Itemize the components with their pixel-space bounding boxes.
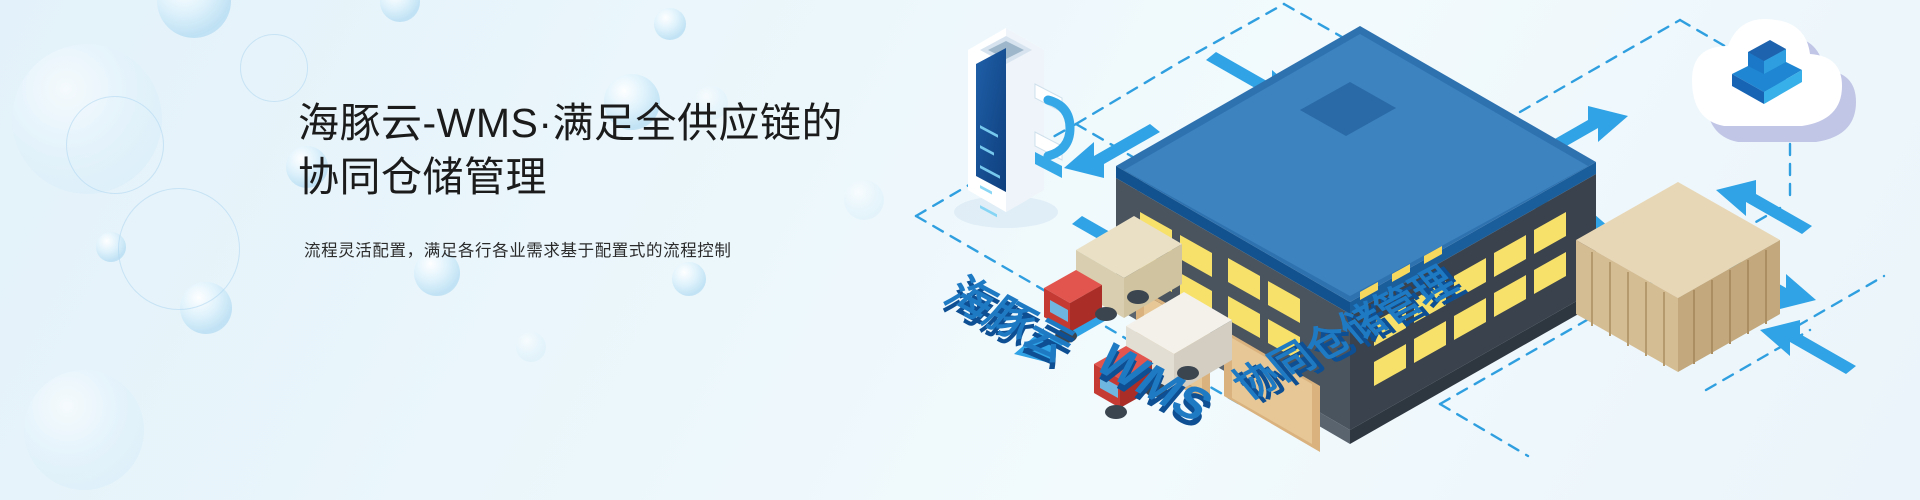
warehouse-illustration: 海豚云 海豚云 WMS WMS 协同仓储管理 协同仓储管理 xyxy=(880,0,1920,500)
decorative-bubble xyxy=(516,332,546,362)
decorative-bubble-ring xyxy=(66,96,164,194)
decorative-bubble xyxy=(654,8,686,40)
decorative-bubble xyxy=(157,0,231,38)
decorative-bubble xyxy=(24,370,144,490)
shipping-container xyxy=(1576,182,1780,372)
decorative-bubble xyxy=(96,232,126,262)
page-subtitle: 流程灵活配置，满足各行各业需求基于配置式的流程控制 xyxy=(304,238,918,264)
decorative-bubble xyxy=(672,262,706,296)
decorative-bubble xyxy=(380,0,420,22)
hero-banner: 海豚云-WMS·满足全供应链的 协同仓储管理 流程灵活配置，满足各行各业需求基于… xyxy=(0,0,1920,500)
decorative-bubble-ring xyxy=(240,34,308,102)
decorative-bubble-ring xyxy=(118,188,240,310)
hero-copy: 海豚云-WMS·满足全供应链的 协同仓储管理 流程灵活配置，满足各行各业需求基于… xyxy=(298,96,918,265)
cloud-download xyxy=(1692,19,1856,142)
decorative-bubble xyxy=(12,44,162,194)
server-rack xyxy=(954,28,1070,228)
decorative-bubble xyxy=(180,282,232,334)
page-title: 海豚云-WMS·满足全供应链的 协同仓储管理 xyxy=(298,96,918,204)
